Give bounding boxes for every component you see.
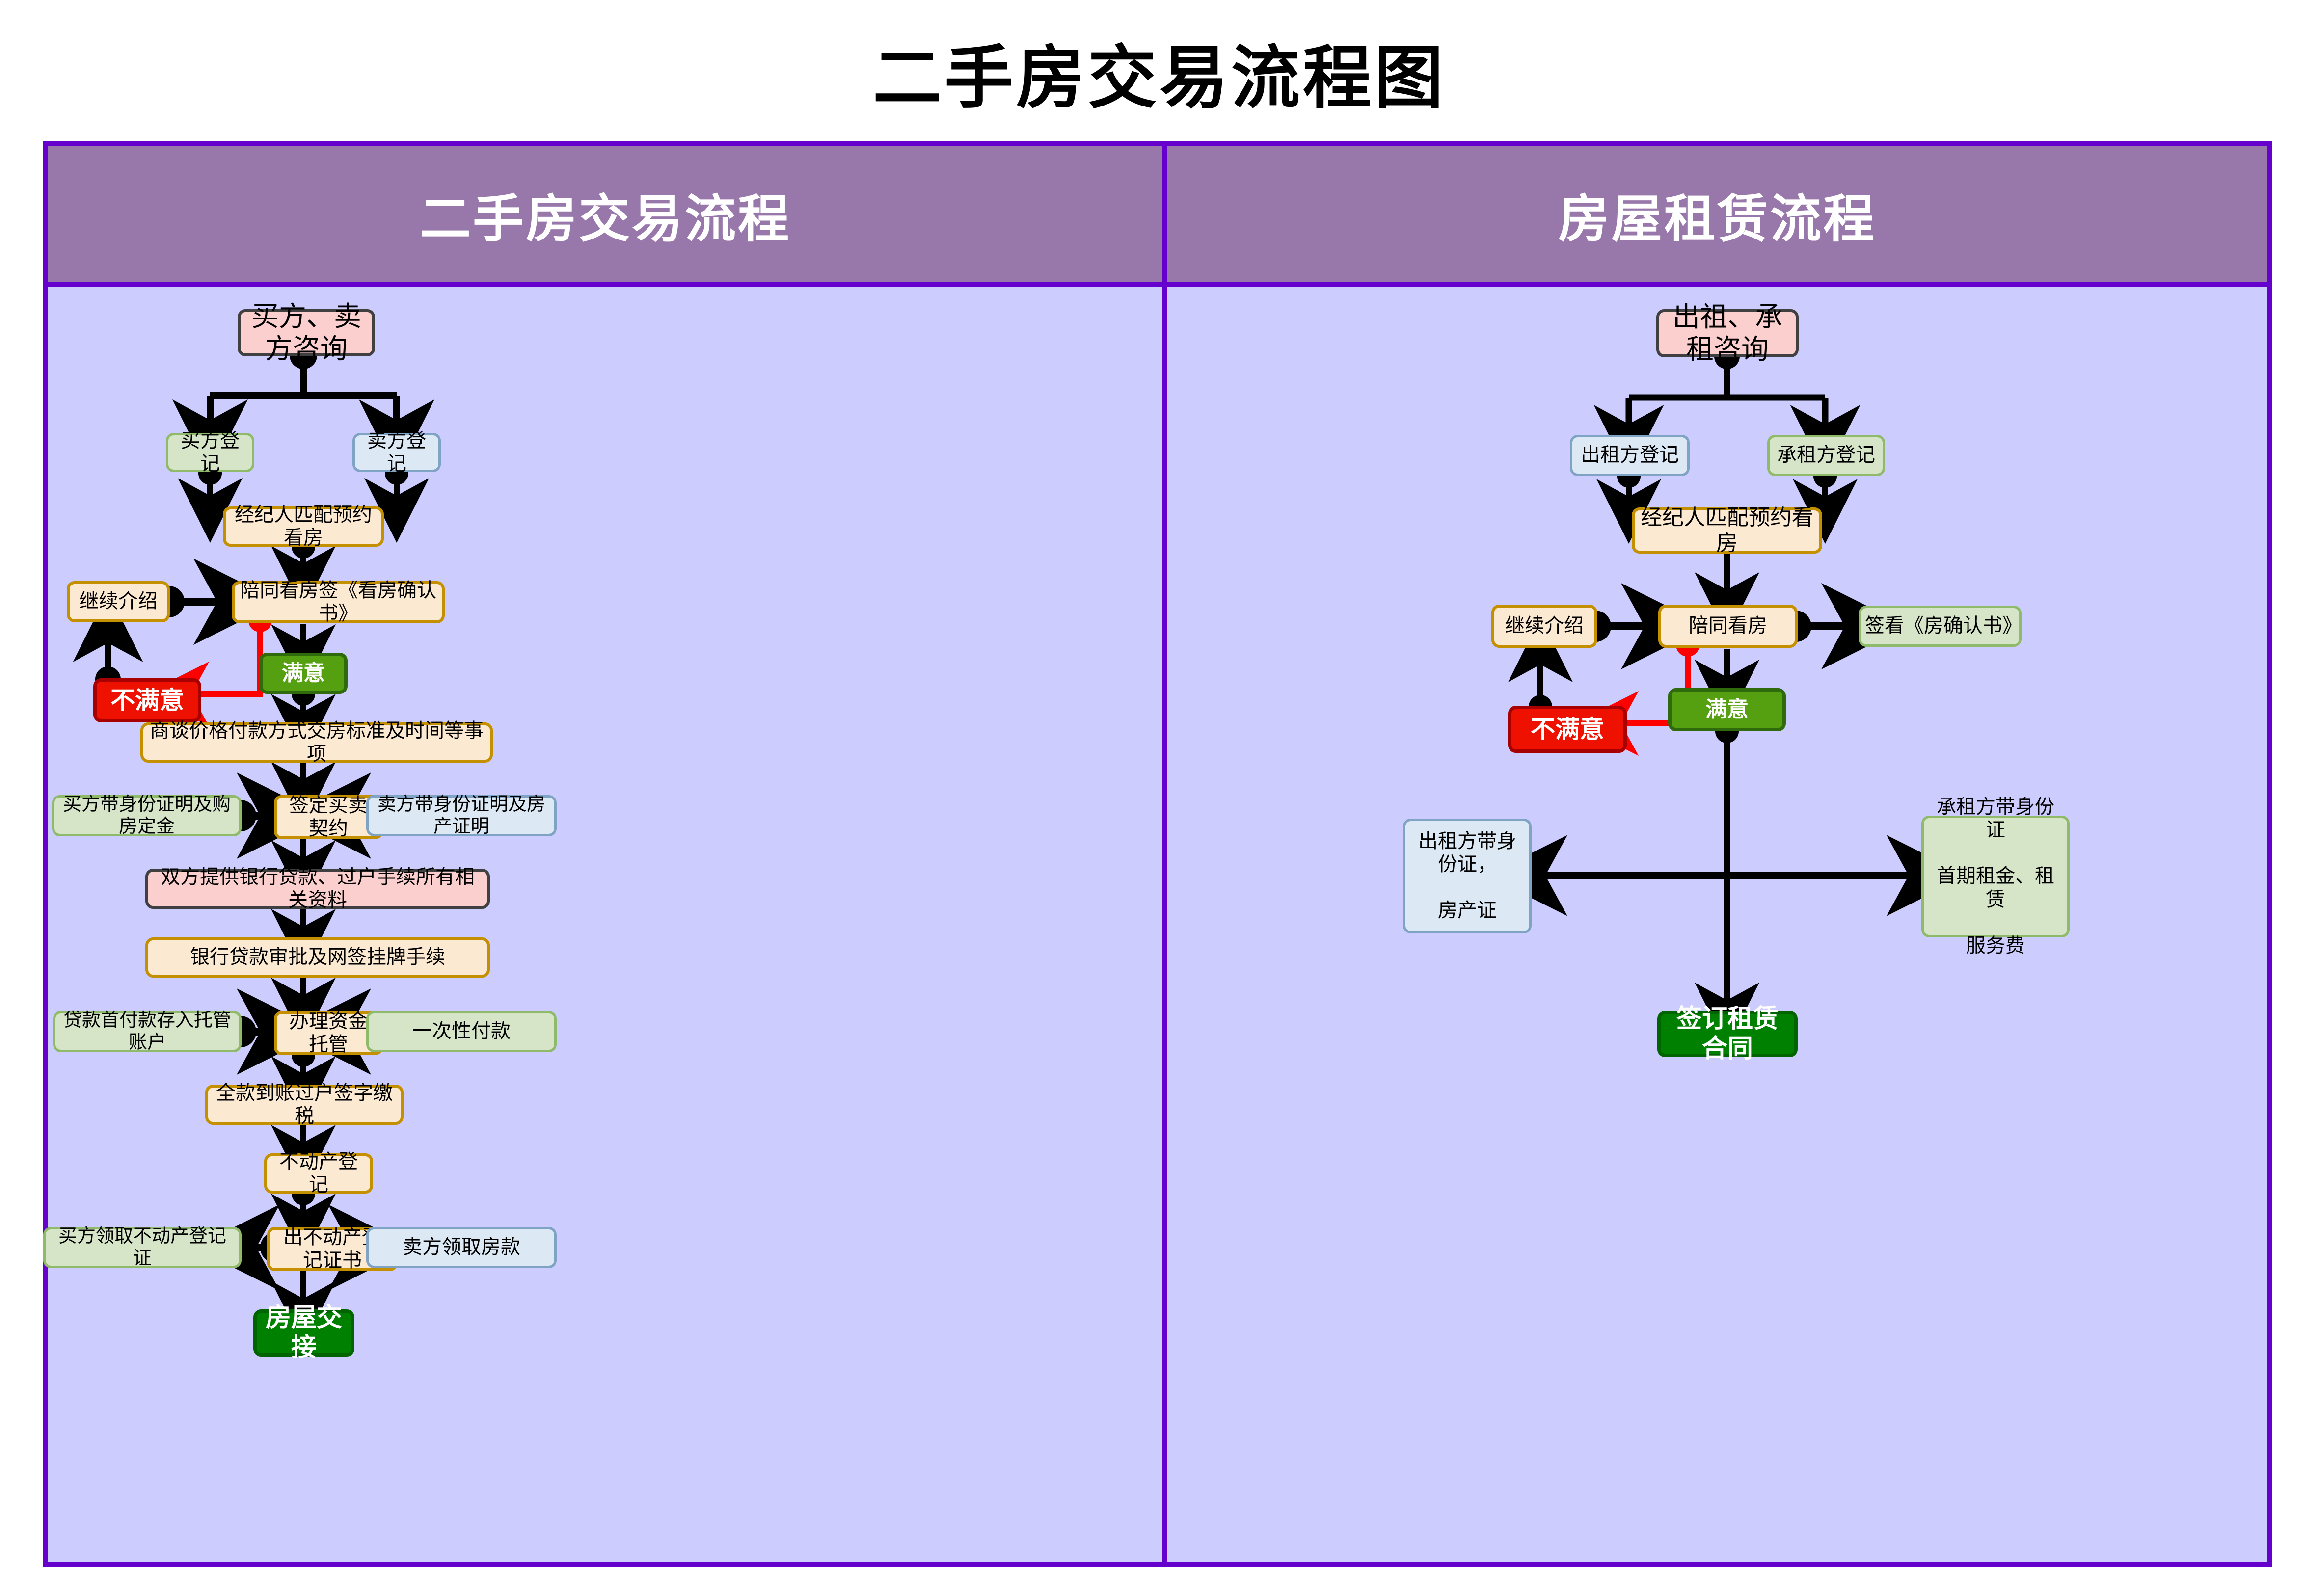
node-tenant-register[interactable]: 承租方登记	[1767, 435, 1885, 476]
node-satisfied[interactable]: 满意	[259, 653, 348, 694]
rent-connectors	[1167, 287, 2267, 1567]
column-divider	[1162, 146, 1167, 1562]
header-cell-rent: 房屋租赁流程	[1167, 146, 2267, 282]
node-unsatisfied-rent[interactable]: 不满意	[1508, 706, 1627, 753]
node-tenant-docs-fees[interactable]: 承租方带身份证 首期租金、租赁 服务费	[1921, 816, 2070, 937]
node-both-provide-loan-docs[interactable]: 双方提供银行贷款、过户手续所有相关资料	[145, 869, 490, 909]
node-landlord-docs[interactable]: 出租方带身份证， 房产证	[1403, 819, 1532, 933]
header-label-sale: 二手房交易流程	[420, 177, 791, 251]
header-row: 二手房交易流程 房屋租赁流程	[48, 146, 2267, 287]
sale-connectors	[48, 287, 1162, 1567]
node-buyer-docs-deposit[interactable]: 买方带身份证明及购房定金	[52, 795, 242, 836]
node-downpayment-escrow-deposit[interactable]: 贷款首付款存入托管账户	[53, 1011, 242, 1052]
node-seller-docs-deed[interactable]: 卖方带身份证明及房产证明	[366, 795, 557, 836]
node-satisfied-rent[interactable]: 满意	[1668, 688, 1786, 731]
node-buyer-seller-consult[interactable]: 买方、卖方咨询	[238, 309, 375, 356]
node-landlord-tenant-consult[interactable]: 出祖、承租咨询	[1656, 309, 1799, 357]
header-label-rent: 房屋租赁流程	[1558, 177, 1876, 251]
node-loan-approval-online-sign[interactable]: 银行贷款审批及网签挂牌手续	[145, 937, 490, 978]
node-full-payment-transfer-tax[interactable]: 全款到账过户签字缴税	[205, 1085, 404, 1125]
pane-rent: 出祖、承租咨询 出租方登记 承租方登记 经纪人匹配预约看房 继续介绍 陪同看房 …	[1167, 287, 2267, 1567]
node-negotiate-terms[interactable]: 商谈价格付款方式交房标准及时间等事项	[140, 722, 493, 763]
node-buyer-receive-cert[interactable]: 买方领取不动产登记证	[43, 1227, 242, 1268]
node-lump-sum-payment[interactable]: 一次性付款	[366, 1011, 557, 1052]
header-cell-sale: 二手房交易流程	[48, 146, 1162, 282]
node-accompanied-viewing-sign[interactable]: 陪同看房签《看房确认书》	[232, 581, 445, 623]
node-buyer-register[interactable]: 买方登记	[166, 433, 254, 472]
node-agent-match-viewing-rent[interactable]: 经纪人匹配预约看房	[1632, 507, 1822, 554]
page-title: 二手房交易流程图	[0, 23, 2319, 122]
node-sign-room-confirmation[interactable]: 签看《房确认书》	[1859, 606, 2022, 647]
node-agent-match-viewing[interactable]: 经纪人匹配预约看房	[223, 506, 384, 547]
node-sign-lease-contract[interactable]: 签订租赁合同	[1657, 1011, 1798, 1057]
node-property-registration[interactable]: 不动产登记	[264, 1153, 373, 1194]
flowchart-frame: 二手房交易流程 房屋租赁流程	[43, 141, 2272, 1567]
node-house-handover[interactable]: 房屋交接	[253, 1309, 354, 1357]
node-continue-intro[interactable]: 继续介绍	[67, 581, 170, 622]
node-seller-receive-payment[interactable]: 卖方领取房款	[366, 1227, 557, 1268]
node-seller-register[interactable]: 卖方登记	[352, 433, 441, 472]
pane-sale: 买方、卖方咨询 买方登记 卖方登记 经纪人匹配预约看房 继续介绍 陪同看房签《看…	[48, 287, 1162, 1567]
node-landlord-register[interactable]: 出租方登记	[1570, 435, 1690, 476]
node-unsatisfied[interactable]: 不满意	[93, 678, 201, 722]
node-accompanied-viewing[interactable]: 陪同看房	[1658, 605, 1798, 648]
node-continue-intro-rent[interactable]: 继续介绍	[1491, 605, 1597, 648]
